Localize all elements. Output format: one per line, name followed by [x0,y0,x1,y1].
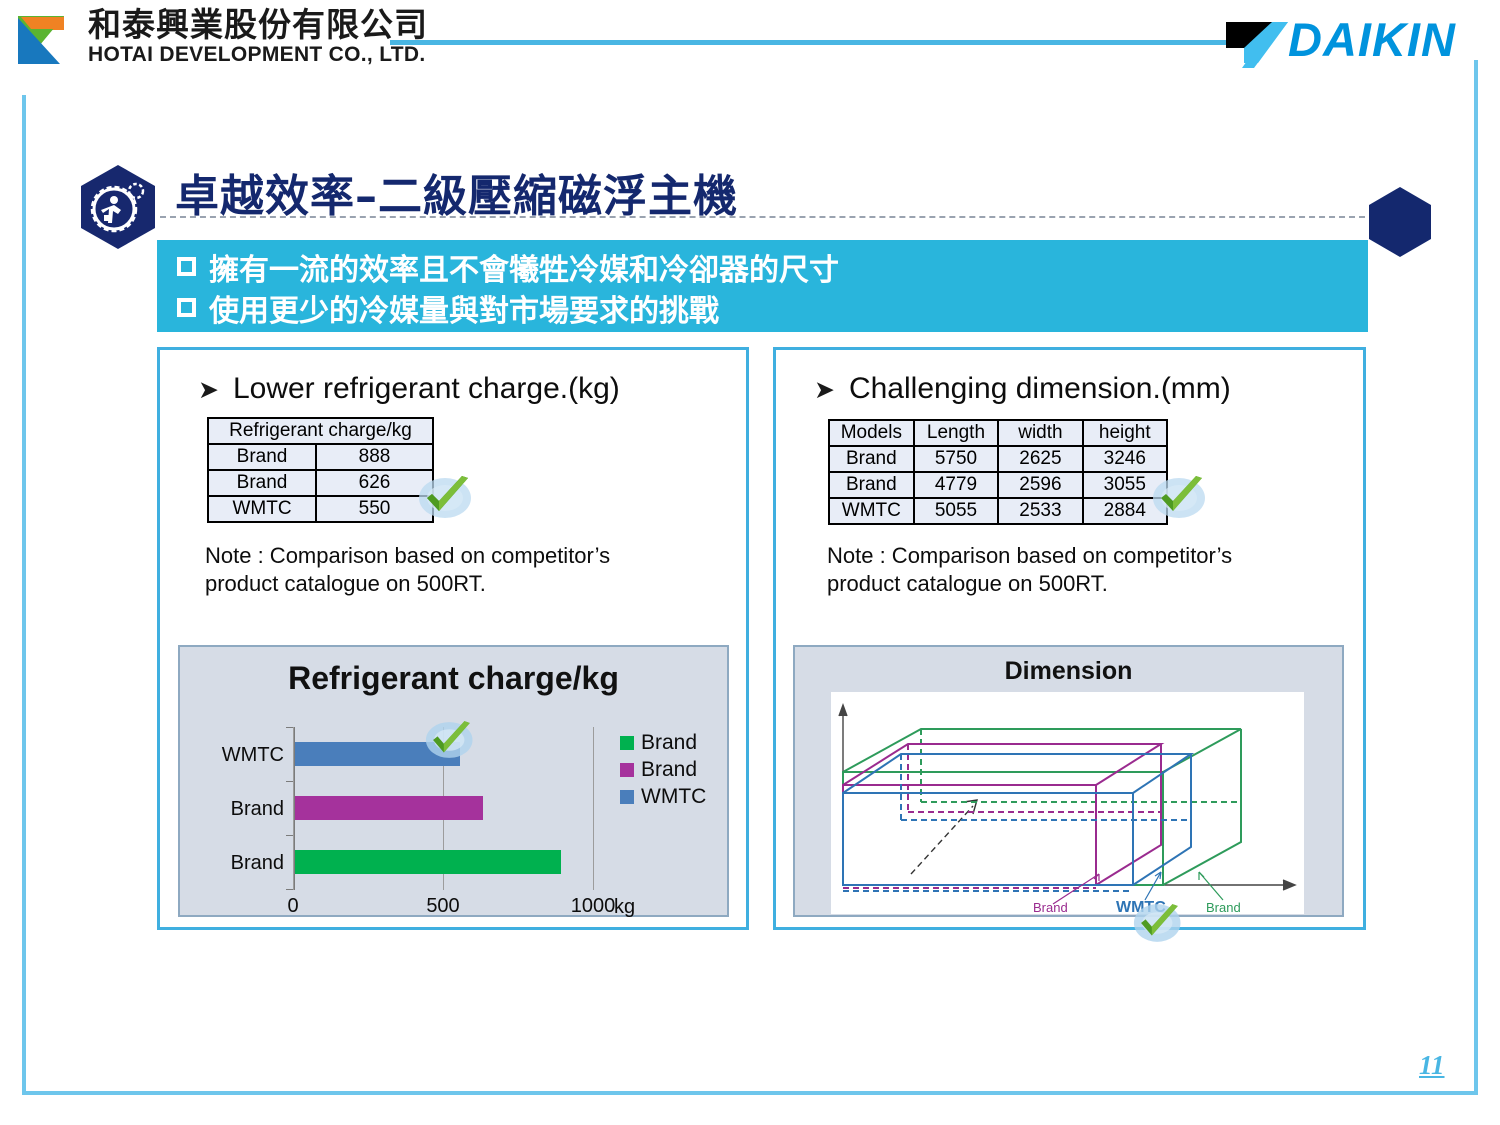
table-cell-value: 550 [316,496,433,522]
table-row: WMTC 5055 2533 2884 [829,498,1167,524]
chart-xtick-500: 500 [408,895,478,918]
title-hexagon-icon [78,163,158,251]
chart-gridline-0 [293,727,294,890]
left-panel-heading-text: Lower refrigerant charge.(kg) [233,372,620,406]
banner-bullet-2: 使用更少的冷媒量與對市場要求的挑戰 [157,287,1368,328]
table-cell-width: 2625 [998,446,1082,472]
table-cell-label: Brand [208,444,316,470]
chart-axis-tick [286,835,293,836]
decorative-hexagon [1367,186,1433,258]
left-panel-heading: ➤ Lower refrigerant charge.(kg) [198,372,746,406]
arrow-bullet-icon: ➤ [198,375,219,404]
table-header-row: Refrigerant charge/kg [208,418,433,444]
table-row: Brand 5750 2625 3246 [829,446,1167,472]
legend-label: WMTC [641,785,706,809]
dimension-figure-title: Dimension [795,657,1342,686]
dim-label-brand-green: Brand [1206,900,1241,914]
table-header-cell: Refrigerant charge/kg [208,418,433,444]
legend-item-brand-1: Brand [620,729,706,756]
chart-title: Refrigerant charge/kg [180,660,727,697]
legend-item-brand-2: Brand [620,756,706,783]
table-cell-label: Brand [208,470,316,496]
slide-header: 和泰興業股份有限公司 HOTAI DEVELOPMENT CO., LTD. D… [0,0,1500,95]
right-panel-note: Note : Comparison based on competitor’s … [827,542,1257,598]
table-cell-length: 5750 [914,446,999,472]
table-row: Brand 626 [208,470,433,496]
table-cell-model: Brand [829,472,914,498]
table-row: Brand 888 [208,444,433,470]
table-cell-width: 2596 [998,472,1082,498]
banner-bullet-1-text: 擁有一流的效率且不會犧牲冷媒和冷卻器的尺寸 [209,245,839,289]
legend-item-wmtc: WMTC [620,783,706,810]
table-cell-value: 888 [316,444,433,470]
table-header-cell: height [1083,420,1167,446]
banner-bullet-1: 擁有一流的效率且不會犧牲冷媒和冷卻器的尺寸 [157,246,1368,287]
table-cell-length: 5055 [914,498,999,524]
left-panel-note: Note : Comparison based on competitor’s … [205,542,635,598]
daikin-wordmark: DAIKIN [1288,12,1456,67]
header-divider-rule [390,40,1245,45]
box-comparison-icon: Brand WMTC Brand [831,692,1304,914]
dimension-figure: Dimension [793,645,1344,917]
chart-xtick-0: 0 [258,895,328,918]
highlight-banner: 擁有一流的效率且不會犧牲冷媒和冷卻器的尺寸 使用更少的冷媒量與對市場要求的挑戰 [157,240,1368,332]
table-header-cell: width [998,420,1082,446]
chart-axis-tick [286,889,293,890]
chart-category-label-brand2: Brand [188,798,284,821]
chart-category-label-wmtc: WMTC [188,744,284,767]
legend-label: Brand [641,758,697,782]
table-header-row: Models Length width height [829,420,1167,446]
right-panel-heading: ➤ Challenging dimension.(mm) [814,372,1363,406]
square-bullet-icon [177,257,196,276]
hotai-company-name: 和泰興業股份有限公司 HOTAI DEVELOPMENT CO., LTD. [88,8,428,65]
daikin-logo: DAIKIN [1224,8,1482,70]
arrow-bullet-icon: ➤ [814,375,835,404]
legend-swatch-icon [620,736,634,750]
table-row: Brand 4779 2596 3055 [829,472,1167,498]
table-cell-label: WMTC [208,496,316,522]
table-cell-model: Brand [829,446,914,472]
chart-axis-tick [286,781,293,782]
table-cell-height: 3055 [1083,472,1167,498]
chart-axis-tick [286,727,293,728]
page-title: 卓越效率–二級壓縮磁浮主機 [175,160,738,224]
table-cell-height: 3246 [1083,446,1167,472]
right-panel-heading-text: Challenging dimension.(mm) [849,372,1231,406]
hotai-company-name-en: HOTAI DEVELOPMENT CO., LTD. [88,44,428,65]
legend-label: Brand [641,731,697,755]
chart-legend: Brand Brand WMTC [620,729,706,810]
chart-bar-brand-1 [295,850,561,874]
table-cell-length: 4779 [914,472,999,498]
refrigerant-charge-table: Refrigerant charge/kg Brand 888 Brand 62… [207,417,434,523]
square-bullet-icon [177,298,196,317]
table-cell-width: 2533 [998,498,1082,524]
chart-category-label-brand1: Brand [188,852,284,875]
chart-bar-wmtc [295,742,460,766]
dimension-table: Models Length width height Brand 5750 26… [828,419,1168,525]
legend-swatch-icon [620,763,634,777]
refrigerant-charge-chart: Refrigerant charge/kg WMTC Brand Brand 0… [178,645,729,917]
banner-bullet-2-text: 使用更少的冷媒量與對市場要求的挑戰 [209,286,719,330]
dim-label-brand-purple: Brand [1033,900,1068,914]
table-cell-height: 2884 [1083,498,1167,524]
legend-swatch-icon [620,790,634,804]
table-cell-model: WMTC [829,498,914,524]
table-header-cell: Models [829,420,914,446]
page-number: 11 [1419,1050,1445,1081]
chart-gridline-1000 [593,727,594,890]
table-row: WMTC 550 [208,496,433,522]
dim-label-wmtc: WMTC [1116,899,1166,914]
hotai-logo-icon [18,8,76,70]
table-cell-value: 626 [316,470,433,496]
chart-plot-area: WMTC Brand Brand 0 500 1000 kg Brand Bra… [180,713,731,919]
chart-bar-brand-2 [295,796,483,820]
dimension-diagram-canvas: Brand WMTC Brand [831,692,1304,914]
table-header-cell: Length [914,420,999,446]
chart-unit-label: kg [614,896,635,919]
hotai-company-name-cn: 和泰興業股份有限公司 [88,8,428,41]
title-underline-dotted [160,216,1375,218]
